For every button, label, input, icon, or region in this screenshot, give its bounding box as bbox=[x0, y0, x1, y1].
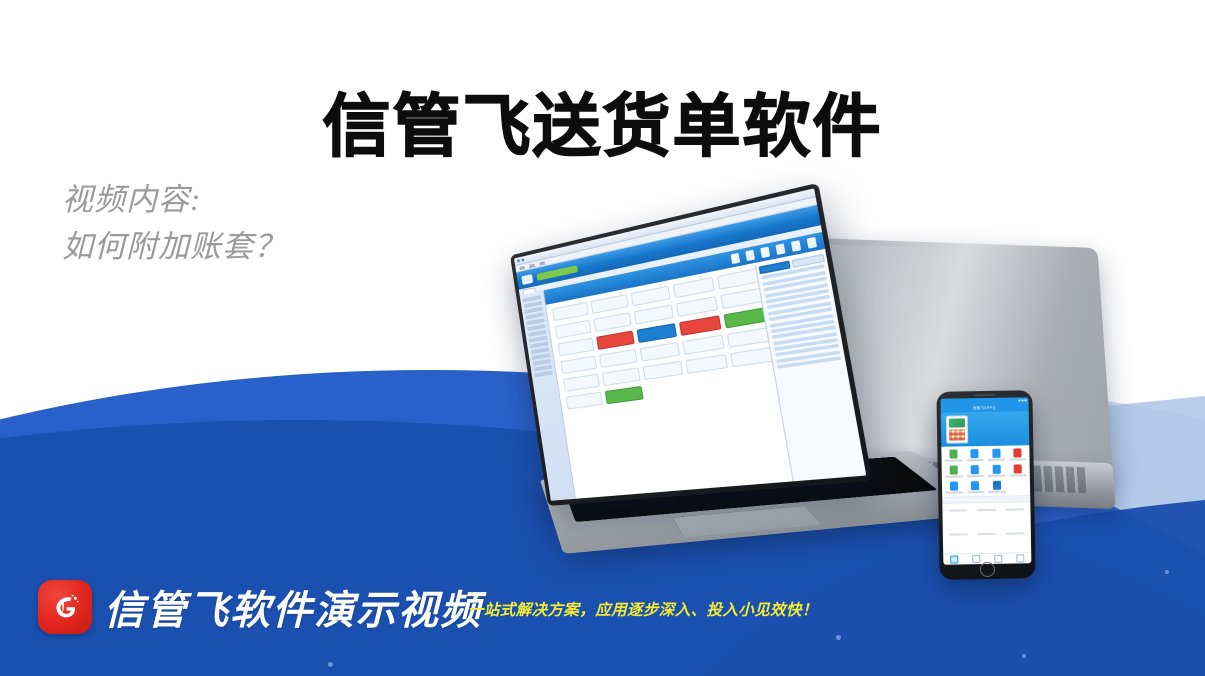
phone-function-grid[interactable] bbox=[941, 445, 1030, 497]
battery-icon bbox=[1025, 399, 1027, 401]
phone-grid-item[interactable] bbox=[944, 481, 964, 493]
app-grid-icon[interactable] bbox=[676, 296, 718, 317]
app-grid-icon[interactable] bbox=[720, 287, 765, 309]
menu-item[interactable]: 帮助 bbox=[539, 260, 545, 266]
menu-item[interactable]: 系统 bbox=[519, 264, 525, 270]
app-grid-icon[interactable] bbox=[552, 302, 589, 321]
app-grid-icon[interactable] bbox=[602, 367, 641, 386]
app-grid-icon[interactable] bbox=[563, 374, 600, 392]
laptop-screen: 系统 基础 帮助 bbox=[514, 188, 866, 500]
app-grid-icon[interactable] bbox=[679, 315, 721, 336]
phone-grid-item[interactable] bbox=[987, 465, 1007, 477]
phone-home-button[interactable] bbox=[980, 562, 995, 577]
phone-grid-item-more[interactable] bbox=[987, 481, 1007, 493]
window-app-icon bbox=[517, 259, 520, 262]
app-grid-icon[interactable] bbox=[593, 312, 631, 332]
toolbar-basedata-icon[interactable] bbox=[775, 243, 785, 255]
phone-grid-item[interactable] bbox=[1008, 464, 1028, 476]
app-grid-icon[interactable] bbox=[555, 320, 592, 339]
app-grid-icon[interactable] bbox=[637, 323, 677, 343]
brand-title: 信管飞软件演示视频 bbox=[104, 578, 482, 636]
menu-item[interactable]: 基础 bbox=[529, 262, 535, 268]
toolbar-exit-icon[interactable] bbox=[807, 237, 817, 249]
app-grid-icon[interactable] bbox=[724, 307, 769, 328]
brand-tagline: 一站式解决方案，应用逐步深入、投入小见效快！ bbox=[468, 598, 818, 620]
deco-dot bbox=[1022, 654, 1026, 658]
app-grid-icon[interactable] bbox=[730, 347, 775, 368]
phone-hero-banner bbox=[941, 411, 1030, 447]
laptop-display-bezel: 系统 基础 帮助 bbox=[510, 183, 873, 506]
app-grid-icon[interactable] bbox=[590, 294, 628, 314]
phone-grid-item[interactable] bbox=[965, 449, 985, 461]
app-grid-icon[interactable] bbox=[599, 349, 638, 368]
sidebar-item[interactable] bbox=[534, 371, 553, 378]
app-grid-icon[interactable] bbox=[643, 361, 684, 380]
phone-stat-cell bbox=[974, 529, 1000, 550]
nav-home-icon[interactable] bbox=[950, 555, 958, 563]
phone-app-title: 信管飞ERP云 bbox=[973, 405, 996, 410]
app-grid-icon[interactable] bbox=[631, 286, 671, 307]
phone-stat-cell bbox=[945, 506, 971, 527]
app-grid-icon[interactable] bbox=[685, 354, 728, 374]
toolbar-search-icon[interactable] bbox=[745, 250, 755, 261]
toolbar-new-icon[interactable] bbox=[731, 253, 741, 264]
app-grid-icon[interactable] bbox=[596, 330, 635, 349]
app-icon-grid[interactable] bbox=[552, 268, 796, 497]
video-content-block: 视频内容: 如何附加账套？ bbox=[62, 176, 286, 270]
phone-stat-cell bbox=[1002, 529, 1028, 550]
nav-profile-icon[interactable] bbox=[1016, 554, 1024, 562]
xinguanfei-bird-logo-icon bbox=[38, 580, 92, 634]
phone-grid-item[interactable] bbox=[965, 465, 985, 477]
app-grid-icon[interactable] bbox=[682, 335, 725, 355]
app-grid-icon[interactable] bbox=[673, 277, 715, 298]
signal-icon bbox=[1019, 399, 1021, 401]
wifi-icon bbox=[1022, 399, 1024, 401]
phone-grid-item[interactable] bbox=[986, 449, 1006, 461]
video-content-question: 如何附加账套？ bbox=[62, 223, 286, 270]
phone-earpiece bbox=[973, 394, 995, 396]
video-content-label: 视频内容: bbox=[62, 176, 286, 223]
nav-documents-icon[interactable] bbox=[972, 555, 980, 563]
app-logo-icon bbox=[521, 274, 533, 285]
phone-grid-item[interactable] bbox=[944, 465, 964, 477]
smartphone: 信管飞ERP云 bbox=[936, 390, 1035, 580]
app-grid-icon[interactable] bbox=[560, 356, 597, 374]
hero-caption bbox=[971, 428, 1024, 429]
phone-grid-item[interactable] bbox=[943, 449, 963, 461]
phone-grid-item[interactable] bbox=[1008, 448, 1028, 460]
phone-stat-cell bbox=[946, 530, 972, 551]
app-grid-icon[interactable] bbox=[605, 386, 644, 404]
app-grid-icon[interactable] bbox=[634, 304, 674, 324]
hero-device-illustration-icon bbox=[946, 415, 968, 443]
desktop-app-window: 系统 基础 帮助 bbox=[514, 188, 866, 500]
toolbar-settings-icon[interactable] bbox=[791, 240, 801, 252]
slide-canvas: 信管飞送货单软件 视频内容: 如何附加账套？ bbox=[0, 0, 1205, 676]
deco-dot bbox=[328, 662, 333, 667]
app-grid-icon[interactable] bbox=[727, 327, 772, 348]
app-grid-icon[interactable] bbox=[640, 342, 681, 362]
footer-brand: 信管飞软件演示视频 bbox=[38, 578, 482, 636]
app-grid-icon[interactable] bbox=[566, 392, 603, 410]
phone-screen: 信管飞ERP云 bbox=[940, 397, 1031, 565]
toolbar-report-icon[interactable] bbox=[760, 247, 770, 258]
app-grid-icon[interactable] bbox=[558, 338, 595, 357]
device-composition: 系统 基础 帮助 bbox=[540, 236, 1205, 586]
app-grid-icon[interactable] bbox=[717, 268, 761, 290]
deco-dot bbox=[836, 635, 841, 640]
page-title: 信管飞送货单软件 bbox=[0, 90, 1205, 165]
phone-stats-grid bbox=[942, 502, 1031, 554]
window-app-icon bbox=[521, 258, 524, 261]
phone-stat-cell bbox=[974, 506, 1000, 527]
phone-grid-item[interactable] bbox=[965, 481, 985, 493]
phone-stat-cell bbox=[1002, 505, 1028, 526]
nav-reports-icon[interactable] bbox=[994, 555, 1002, 563]
